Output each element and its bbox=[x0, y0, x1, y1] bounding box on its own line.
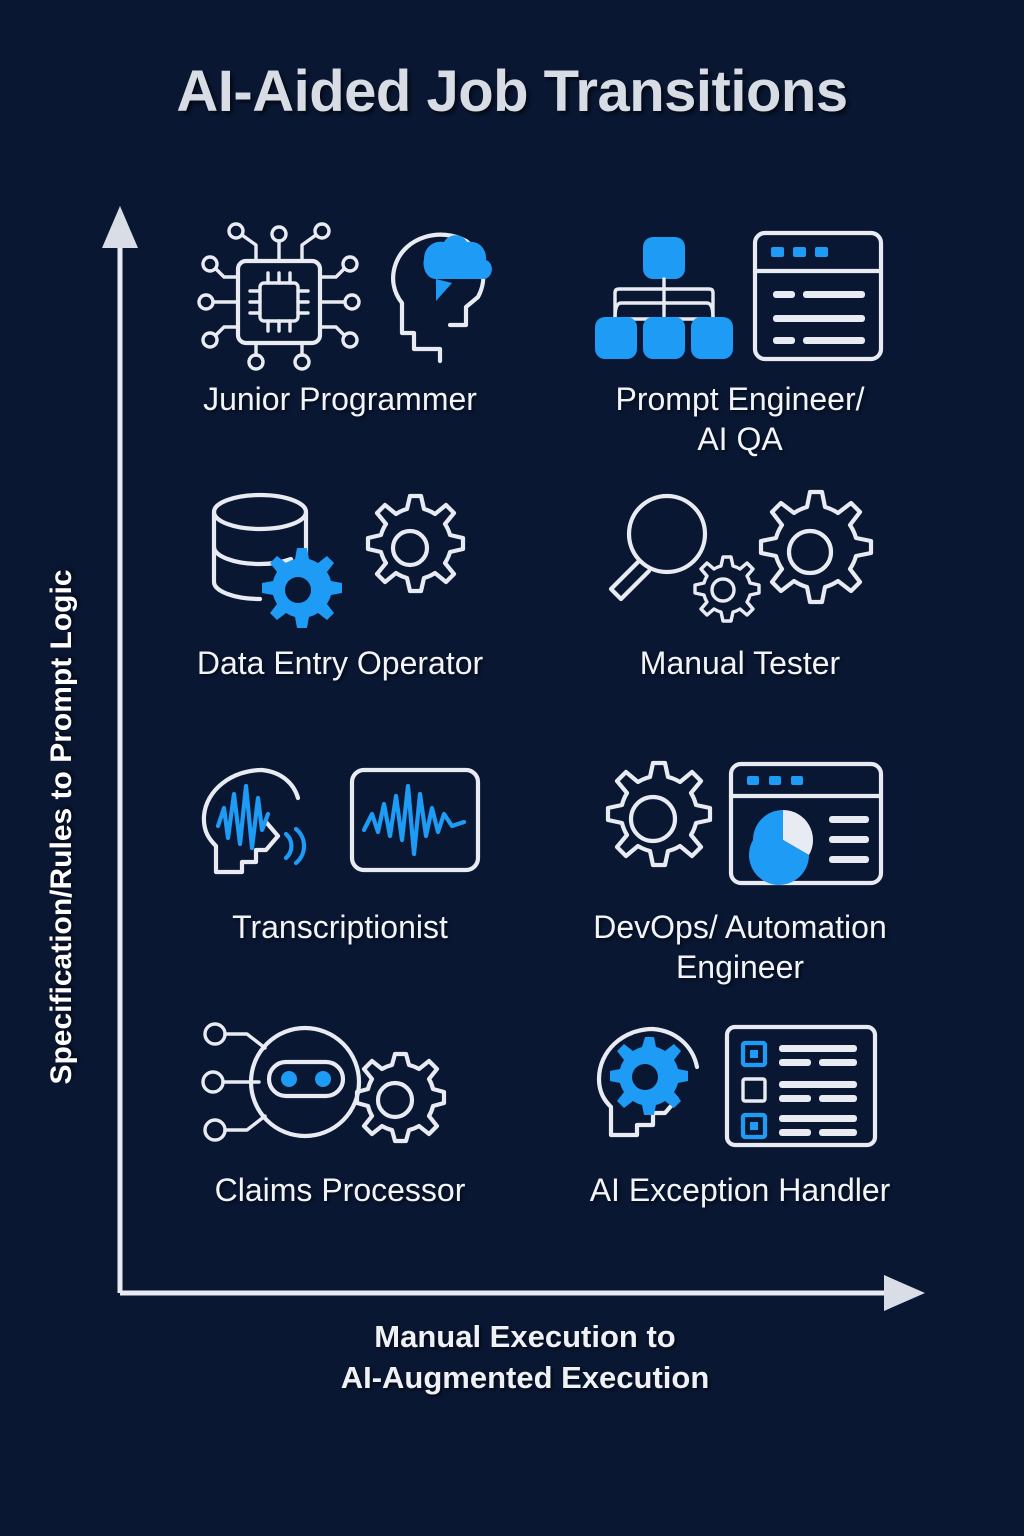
x-axis-label-line2: AI-Augmented Execution bbox=[120, 1357, 930, 1398]
icon-group-transcriptionist bbox=[190, 749, 490, 899]
cell-label-prompt-engineer-ai-qa: Prompt Engineer/ AI QA bbox=[615, 379, 864, 459]
head-speech-waveform-icon bbox=[204, 770, 304, 872]
x-axis-label-line1: Manual Execution to bbox=[120, 1316, 930, 1357]
head-gear-icon bbox=[599, 1029, 697, 1135]
waveform-screen-icon bbox=[352, 770, 478, 870]
cell-label-ai-exception-handler: AI Exception Handler bbox=[590, 1170, 891, 1210]
cell-transcriptionist: Transcriptionist bbox=[140, 743, 540, 1007]
cell-label-junior-programmer: Junior Programmer bbox=[203, 379, 477, 419]
cell-claims-processor: Claims Processor bbox=[140, 1006, 540, 1270]
x-axis-arrow-icon bbox=[884, 1275, 925, 1311]
icon-group-ai-exception-handler bbox=[595, 1012, 885, 1162]
checklist-panel-icon bbox=[727, 1027, 875, 1145]
pie-chart-icon bbox=[749, 810, 813, 885]
cell-data-entry-operator: Data Entry Operator bbox=[140, 479, 540, 743]
gear-icon bbox=[368, 496, 463, 591]
transitions-grid: Junior Programmer bbox=[140, 215, 940, 1270]
head-cloud-thought-icon bbox=[393, 235, 492, 361]
network-nodes-icon bbox=[203, 1024, 265, 1140]
icon-group-data-entry-operator bbox=[200, 485, 480, 635]
robot-head-network-icon bbox=[203, 1024, 359, 1140]
browser-window-text-icon bbox=[755, 233, 881, 359]
gear-icon bbox=[357, 1054, 444, 1141]
checkbox-row-3 bbox=[743, 1115, 857, 1137]
icon-group-prompt-engineer bbox=[595, 221, 885, 371]
cell-label-manual-tester: Manual Tester bbox=[640, 643, 840, 683]
cell-label-devops-automation-engineer: DevOps/ Automation Engineer bbox=[593, 907, 886, 987]
cell-label-transcriptionist: Transcriptionist bbox=[232, 907, 448, 947]
hierarchy-tree-icon bbox=[595, 237, 733, 359]
cell-label-data-entry-operator: Data Entry Operator bbox=[197, 643, 483, 683]
cell-label-claims-processor: Claims Processor bbox=[215, 1170, 466, 1210]
large-gear-icon bbox=[761, 492, 871, 602]
gear-icon bbox=[608, 763, 710, 865]
checkbox-row-1 bbox=[743, 1043, 857, 1066]
icon-group-devops bbox=[595, 749, 885, 899]
small-gear-icon bbox=[695, 557, 759, 621]
cell-devops-automation-engineer: DevOps/ Automation Engineer bbox=[540, 743, 940, 1007]
dashboard-piechart-window-icon bbox=[731, 764, 881, 885]
sound-waves-icon bbox=[286, 829, 304, 863]
checkbox-row-2 bbox=[743, 1079, 857, 1102]
icon-group-claims-processor bbox=[195, 1012, 485, 1162]
blue-gear-icon bbox=[610, 1037, 688, 1115]
x-axis-label: Manual Execution to AI-Augmented Executi… bbox=[120, 1316, 930, 1398]
icon-group-manual-tester bbox=[605, 485, 875, 635]
blue-gear-icon bbox=[262, 548, 342, 628]
cell-manual-tester: Manual Tester bbox=[540, 479, 940, 743]
cell-prompt-engineer-ai-qa: Prompt Engineer/ AI QA bbox=[540, 215, 940, 479]
y-axis-arrow-icon bbox=[102, 206, 138, 248]
cell-ai-exception-handler: AI Exception Handler bbox=[540, 1006, 940, 1270]
y-axis-label: Specification/Rules to Prompt Logic bbox=[45, 517, 79, 1137]
magnifier-icon bbox=[611, 496, 705, 599]
microchip-circuit-icon bbox=[199, 224, 359, 369]
database-gear-icon bbox=[214, 495, 342, 628]
cell-junior-programmer: Junior Programmer bbox=[140, 215, 540, 479]
page-title: AI-Aided Job Transitions bbox=[0, 58, 1024, 125]
icon-group-junior-programmer bbox=[190, 221, 490, 371]
